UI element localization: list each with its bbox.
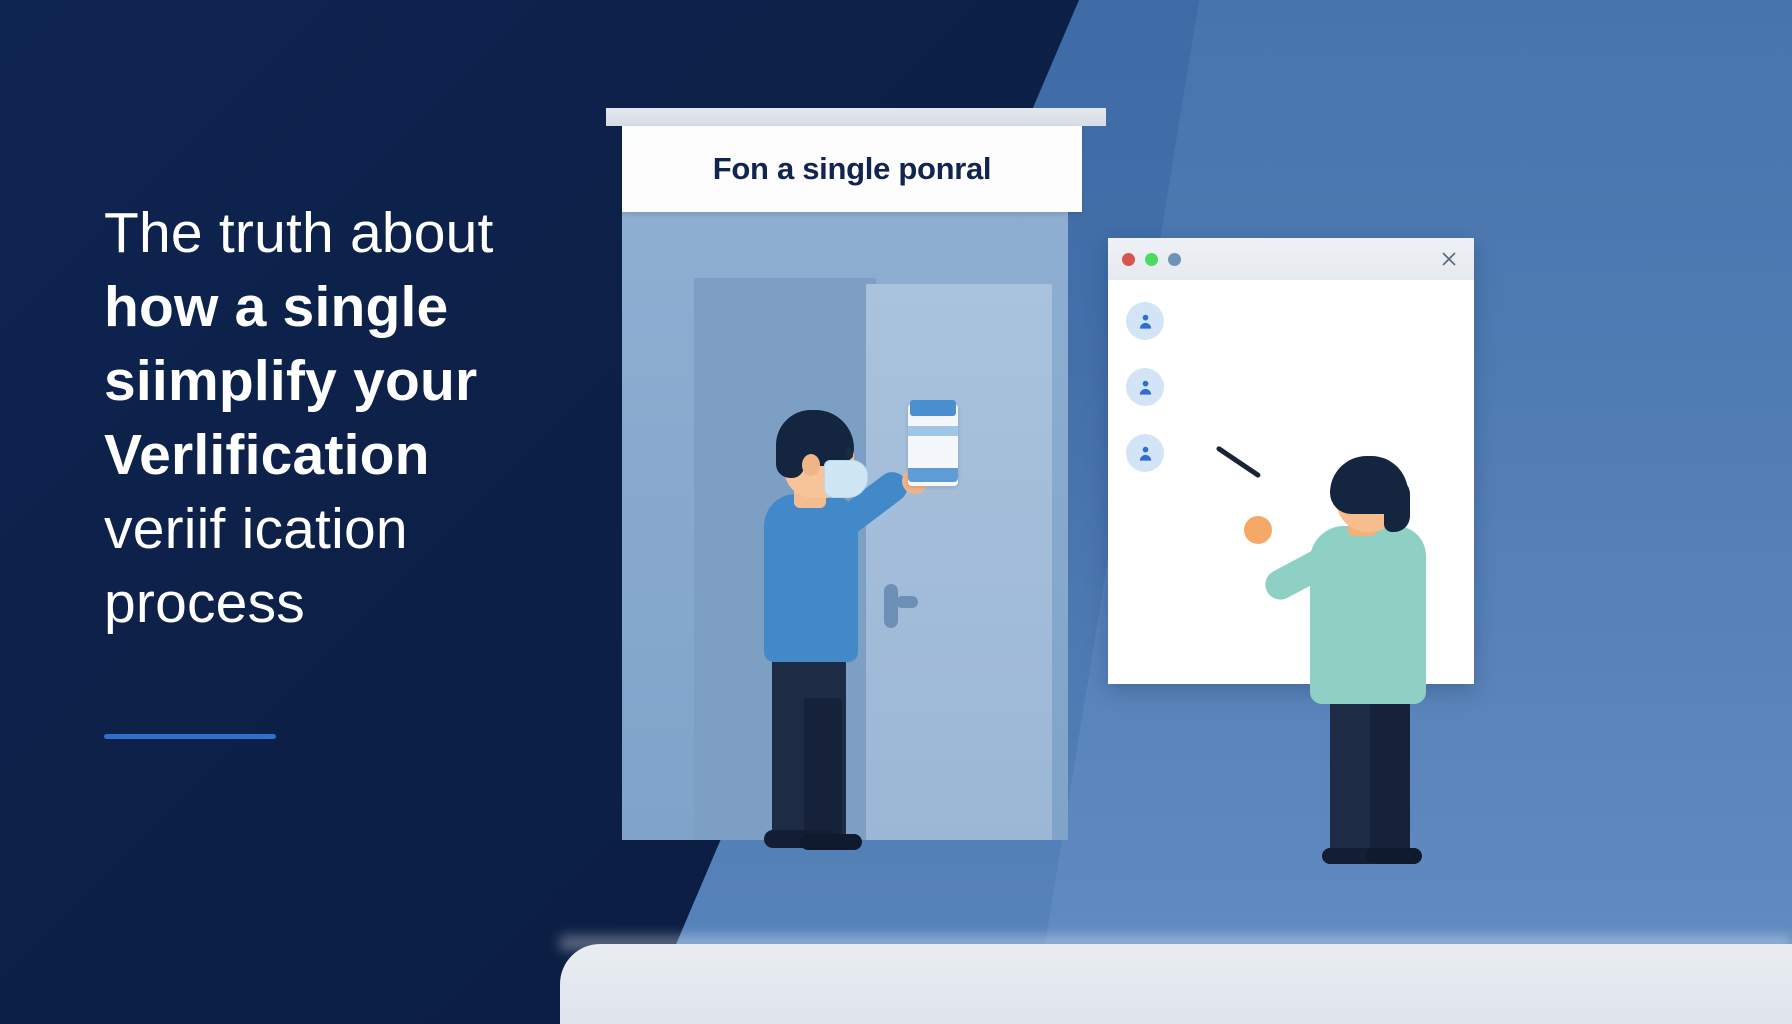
browser-titlebar bbox=[1108, 238, 1474, 280]
sample-vial-label bbox=[908, 426, 958, 436]
person-left-shoe-back bbox=[800, 834, 862, 850]
person-right-leg-back bbox=[1370, 688, 1410, 860]
headline-line-4: Verlification bbox=[104, 418, 624, 492]
person-left-eye bbox=[846, 448, 853, 459]
person-left-leg-back bbox=[804, 698, 842, 842]
building-sign-cornice bbox=[606, 108, 1106, 126]
window-maximize-dot-icon[interactable] bbox=[1145, 253, 1158, 266]
list-item[interactable] bbox=[1126, 368, 1456, 406]
signboard-text: Fon a single ponral bbox=[713, 151, 992, 187]
sample-vial-base bbox=[908, 468, 958, 482]
building-signboard: Fon a single ponral bbox=[622, 126, 1082, 212]
list-item-bars bbox=[1180, 302, 1456, 306]
headline-block: The truth about how a single siimplify y… bbox=[104, 196, 624, 640]
person-icon bbox=[1126, 368, 1164, 406]
headline-line-1: The truth about bbox=[104, 196, 624, 270]
person-icon bbox=[1126, 302, 1164, 340]
list-item[interactable] bbox=[1126, 302, 1456, 340]
sample-vial-cap bbox=[910, 400, 956, 416]
floor-strip bbox=[560, 944, 1792, 1024]
person-right-hand bbox=[1244, 516, 1272, 544]
headline-line-6: process bbox=[104, 566, 624, 640]
promo-banner: The truth about how a single siimplify y… bbox=[0, 0, 1792, 1024]
clinician-person-illustration bbox=[1296, 460, 1476, 860]
list-item-bars bbox=[1180, 434, 1456, 438]
accent-underline bbox=[104, 734, 276, 739]
headline-line-2: how a single bbox=[104, 270, 624, 344]
headline-line-5: veriif ication bbox=[104, 492, 624, 566]
person-right-shoe-back bbox=[1366, 848, 1422, 864]
window-close-dot-icon[interactable] bbox=[1122, 253, 1135, 266]
close-icon[interactable] bbox=[1440, 250, 1458, 268]
person-left-ear bbox=[802, 454, 820, 476]
face-mask-icon bbox=[824, 460, 868, 498]
headline-line-3: siimplify your bbox=[104, 344, 624, 418]
window-minimize-dot-icon[interactable] bbox=[1168, 253, 1181, 266]
person-icon bbox=[1126, 434, 1164, 472]
person-left-hair-side bbox=[776, 432, 804, 478]
person-right-hair-back bbox=[1384, 478, 1410, 532]
person-right-leg-front bbox=[1330, 688, 1370, 860]
list-item-bars bbox=[1180, 368, 1456, 372]
